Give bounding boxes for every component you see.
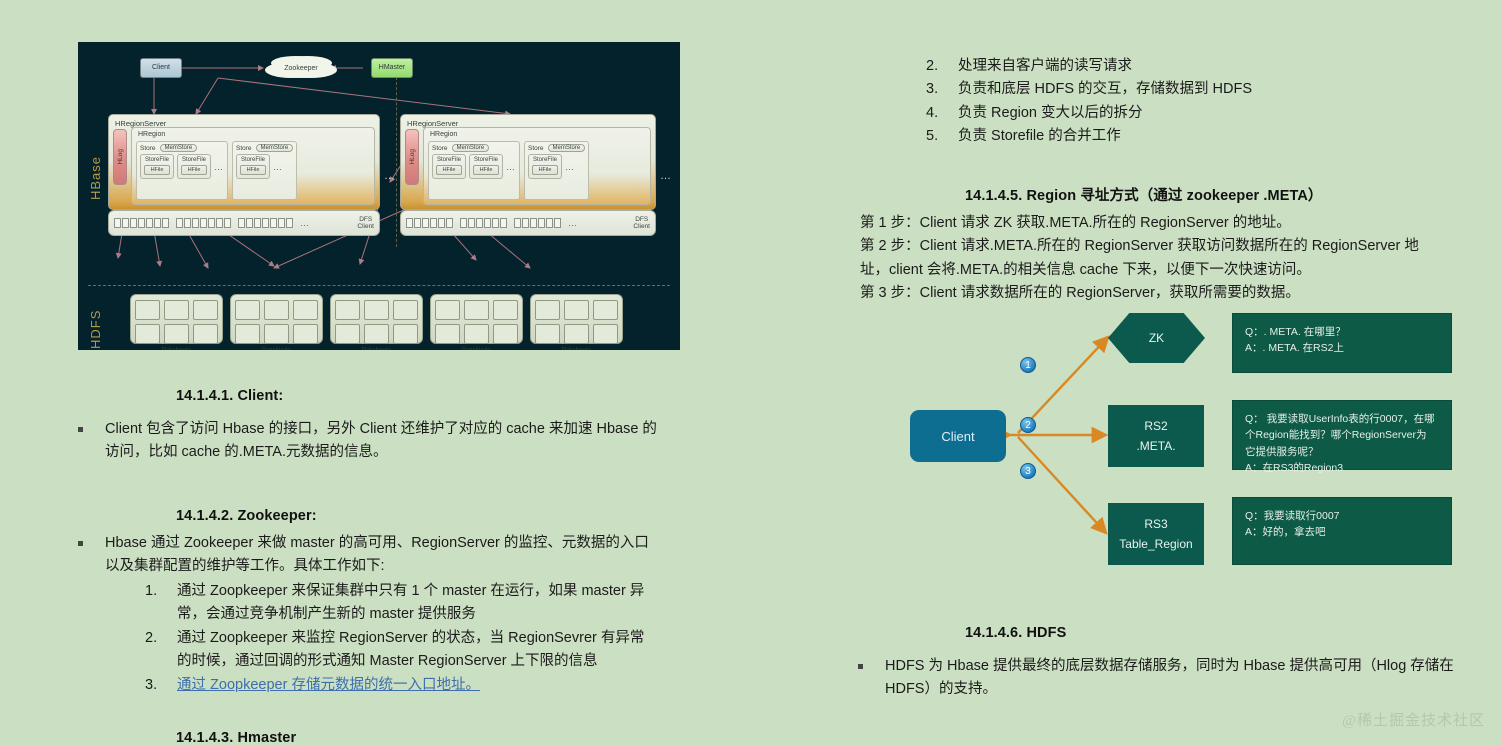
block <box>286 218 293 228</box>
dn-block <box>393 324 418 344</box>
block <box>270 218 277 228</box>
storefile-label: StoreFile <box>474 157 498 163</box>
block <box>278 218 285 228</box>
list-text: 通过 Zoopkeeper 来保证集群中只有 1 个 master 在运行，如果… <box>177 580 655 627</box>
block <box>216 218 223 228</box>
block <box>514 218 521 228</box>
dn-block <box>135 324 160 344</box>
store-block: Store MemStore StoreFile HFile … <box>232 141 297 200</box>
dfs-ellipsis: … <box>568 218 578 228</box>
list-index: 3. <box>926 78 958 101</box>
datanode-1: DataNode <box>130 294 223 344</box>
qa1-line-1: Q：. META. 在哪里？ <box>1245 324 1439 340</box>
hfile-label: HFile <box>473 165 499 175</box>
list-text: 负责 Region 变大以后的拆分 <box>958 102 1143 125</box>
storefile-block: StoreFile HFile <box>432 154 466 179</box>
hlog-label: HLog <box>409 149 416 165</box>
storefile-label: StoreFile <box>182 157 206 163</box>
storefile-block: StoreFile HFile <box>469 154 503 179</box>
storefile-label: StoreFile <box>533 157 557 163</box>
memstore-label: MemStore <box>256 144 294 152</box>
heading-region-addressing: 14.1.4.5. Region 寻址方式（通过 zookeeper .META… <box>965 184 1323 205</box>
dfs-line-1: DFS <box>633 216 650 223</box>
datanode-blocks <box>435 300 518 344</box>
block-group <box>514 218 561 228</box>
block <box>146 218 153 228</box>
bullet-zookeeper: Hbase 通过 Zookeeper 来做 master 的高可用、Region… <box>78 532 658 579</box>
datanode-blocks <box>335 300 418 344</box>
block <box>224 218 231 228</box>
list-item: 1. 通过 Zoopkeeper 来保证集群中只有 1 个 master 在运行… <box>145 580 655 627</box>
block <box>122 218 129 228</box>
dn-block <box>535 324 560 344</box>
block <box>546 218 553 228</box>
hregionserver-right: HRegionServer HLog HRegion Store MemStor… <box>400 114 656 210</box>
store-block: Store MemStore StoreFile HFile <box>428 141 520 200</box>
region-addressing-figure: Client ZK RS2 .META. RS3 Table_Region 1 … <box>850 305 1490 585</box>
store-label: Store <box>432 145 448 152</box>
block <box>130 218 137 228</box>
block <box>192 218 199 228</box>
hfile-label: HFile <box>240 165 266 175</box>
dn-block <box>293 324 318 344</box>
bullet-zookeeper-text: Hbase 通过 Zookeeper 来做 master 的高可用、Region… <box>105 532 658 579</box>
bullet-client-text: Client 包含了访问 Hbase 的接口，另外 Client 还维护了对应的… <box>105 418 658 465</box>
storefile-block: StoreFile HFile <box>177 154 211 179</box>
block <box>522 218 529 228</box>
dn-block <box>335 324 360 344</box>
list-index: 2. <box>145 627 177 674</box>
hregion-right: HRegion Store MemStore StoreFile <box>423 127 651 205</box>
storefile-block: StoreFile HFile <box>236 154 270 179</box>
storefile-block: StoreFile HFile <box>140 154 174 179</box>
block <box>422 218 429 228</box>
qa2-line-4: A：在RS3的Region3 <box>1245 460 1439 476</box>
region-steps: 第 1 步：Client 请求 ZK 获取.META.所在的 RegionSer… <box>860 212 1470 306</box>
block <box>246 218 253 228</box>
dn-block <box>193 300 218 320</box>
bullet-hdfs: HDFS 为 Hbase 提供最终的底层数据存储服务，同时为 Hbase 提供高… <box>858 655 1473 702</box>
side-label-hbase: HBase <box>88 134 103 200</box>
block <box>460 218 467 228</box>
list-index: 5. <box>926 125 958 148</box>
rs2-line-2: .META. <box>1136 436 1175 456</box>
list-item: 3. 负责和底层 HDFS 的交互，存储数据到 HDFS <box>926 78 1486 101</box>
dn-block <box>593 324 618 344</box>
watermark: @稀土掘金技术社区 <box>1342 709 1485 730</box>
heading-hdfs: 14.1.4.6. HDFS <box>965 625 1066 641</box>
qa3-line-2: A：好的，拿去吧 <box>1245 524 1439 540</box>
hlog-right: HLog <box>405 129 419 185</box>
block <box>438 218 445 228</box>
datanode-3: DataNode <box>330 294 423 344</box>
block <box>162 218 169 228</box>
dfs-line-2: Client <box>357 223 374 230</box>
dn-block <box>435 324 460 344</box>
heading-client: 14.1.4.1. Client: <box>176 388 283 404</box>
block <box>414 218 421 228</box>
block <box>208 218 215 228</box>
qa2-line-2: 个Region能找到？哪个RegionServer为 <box>1245 427 1439 443</box>
dn-block <box>293 300 318 320</box>
list-item[interactable]: 3. 通过 Zoopkeeper 存储元数据的统一入口地址。 <box>145 674 655 697</box>
hlog-label: HLog <box>117 149 124 165</box>
region-step-2-cont: 址，client 会将.META.的相关信息 cache 下来，以便下一次快速访… <box>860 259 1470 282</box>
block <box>114 218 121 228</box>
block <box>484 218 491 228</box>
heading-zookeeper: 14.1.4.2. Zookeeper: <box>176 508 317 524</box>
storefile-ellipsis: … <box>214 162 224 172</box>
hlog-left: HLog <box>113 129 127 185</box>
block <box>554 218 561 228</box>
rs3-line-1: RS3 <box>1144 514 1167 534</box>
square-bullet-icon <box>78 541 83 546</box>
dfs-client-label: DFS Client <box>633 216 650 231</box>
block <box>476 218 483 228</box>
block-group <box>460 218 507 228</box>
dn-block <box>193 324 218 344</box>
list-text-link[interactable]: 通过 Zoopkeeper 存储元数据的统一入口地址。 <box>177 674 480 697</box>
storefile-block: StoreFile HFile <box>528 154 562 179</box>
dfs-client-label: DFS Client <box>357 216 374 231</box>
hfile-label: HFile <box>181 165 207 175</box>
step-badge-3: 3 <box>1020 463 1036 479</box>
region-step-1: 第 1 步：Client 请求 ZK 获取.META.所在的 RegionSer… <box>860 212 1470 235</box>
step-badge-1: 1 <box>1020 357 1036 373</box>
square-bullet-icon <box>78 427 83 432</box>
datanode-label: DataNode <box>235 347 318 350</box>
dn-block <box>564 324 589 344</box>
hfile-label: HFile <box>436 165 462 175</box>
dn-block <box>593 300 618 320</box>
list-index: 4. <box>926 102 958 125</box>
block <box>184 218 191 228</box>
store-label: Store <box>140 145 156 152</box>
storefile-ellipsis: … <box>506 162 516 172</box>
right-column: 2. 处理来自客户端的读写请求 3. 负责和底层 HDFS 的交互，存储数据到 … <box>750 0 1501 740</box>
hfile-label: HFile <box>144 165 170 175</box>
datanode-label: DataNode <box>535 347 618 350</box>
qa-box-3: Q：我要读取行0007 A：好的，拿去吧 <box>1232 497 1452 565</box>
list-item: 4. 负责 Region 变大以后的拆分 <box>926 102 1486 125</box>
dn-block <box>435 300 460 320</box>
block <box>430 218 437 228</box>
store-label: Store <box>528 145 544 152</box>
regionserver-ellipsis-left: … <box>384 170 396 182</box>
block <box>138 218 145 228</box>
hregion-title: HRegion <box>138 131 371 138</box>
datanode-label: DataNode <box>335 347 418 350</box>
rs2-line-1: RS2 <box>1144 416 1167 436</box>
hbase-architecture-figure: HBase HDFS Client Zookeeper HMaster HReg… <box>78 42 680 350</box>
qa2-line-1: Q： 我要读取UserInfo表的行0007，在哪 <box>1245 411 1439 427</box>
list-text: 处理来自客户端的读写请求 <box>958 55 1132 78</box>
block <box>262 218 269 228</box>
datanode-4: DataNode <box>430 294 523 344</box>
block <box>492 218 499 228</box>
block <box>238 218 245 228</box>
storefile-ellipsis: … <box>565 162 575 172</box>
block-group <box>114 218 169 228</box>
dfs-ellipsis: … <box>300 218 310 228</box>
datanode-5: DataNode <box>530 294 623 344</box>
dn-block <box>135 300 160 320</box>
block <box>500 218 507 228</box>
storefile-label: StoreFile <box>437 157 461 163</box>
zookeeper-task-list: 1. 通过 Zoopkeeper 来保证集群中只有 1 个 master 在运行… <box>145 580 655 697</box>
dn-block <box>464 324 489 344</box>
list-item: 5. 负责 Storefile 的合并工作 <box>926 125 1486 148</box>
region-step-2: 第 2 步：Client 请求.META.所在的 RegionServer 获取… <box>860 235 1470 258</box>
store-block: Store MemStore StoreFile HFile <box>136 141 228 200</box>
datanode-blocks <box>535 300 618 344</box>
block-group <box>176 218 231 228</box>
datanode-label: DataNode <box>435 347 518 350</box>
memstore-label: MemStore <box>160 144 198 152</box>
block <box>200 218 207 228</box>
regionserver-duty-list: 2. 处理来自客户端的读写请求 3. 负责和底层 HDFS 的交互，存储数据到 … <box>926 55 1486 149</box>
block <box>254 218 261 228</box>
datanode-2: DataNode <box>230 294 323 344</box>
dfs-line-2: Client <box>633 223 650 230</box>
block <box>176 218 183 228</box>
list-text: 通过 Zoopkeeper 来监控 RegionServer 的状态，当 Reg… <box>177 627 655 674</box>
block-group <box>238 218 293 228</box>
vertical-divider <box>396 72 397 247</box>
block <box>530 218 537 228</box>
block <box>406 218 413 228</box>
qa2-line-3: 它提供服务呢？ <box>1245 444 1439 460</box>
side-label-hdfs: HDFS <box>88 297 103 349</box>
datanode-blocks <box>235 300 318 344</box>
list-text: 负责和底层 HDFS 的交互，存储数据到 HDFS <box>958 78 1252 101</box>
dfs-line-1: DFS <box>357 216 374 223</box>
node-zookeeper[interactable]: Zookeeper <box>273 58 329 78</box>
figure-zk-node[interactable]: ZK <box>1108 313 1205 363</box>
dn-block <box>164 300 189 320</box>
dfs-client-bar-right: … DFS Client <box>400 210 656 236</box>
list-index: 2. <box>926 55 958 78</box>
dfs-client-bar-left: … DFS Client <box>108 210 380 236</box>
list-text: 负责 Storefile 的合并工作 <box>958 125 1121 148</box>
node-client[interactable]: Client <box>140 58 182 78</box>
storefile-ellipsis: … <box>273 162 283 172</box>
dn-block <box>235 300 260 320</box>
list-item: 2. 通过 Zoopkeeper 来监控 RegionServer 的状态，当 … <box>145 627 655 674</box>
datanode-label: DataNode <box>135 347 218 350</box>
dn-block <box>564 300 589 320</box>
store-label: Store <box>236 145 252 152</box>
datanode-blocks <box>135 300 218 344</box>
block <box>468 218 475 228</box>
rs3-line-2: Table_Region <box>1119 534 1192 554</box>
figure-rs3-node[interactable]: RS3 Table_Region <box>1108 503 1204 565</box>
square-bullet-icon <box>858 664 863 669</box>
hregionserver-left: HRegionServer HLog HRegion Store MemStor… <box>108 114 380 210</box>
figure-rs2-node[interactable]: RS2 .META. <box>1108 405 1204 467</box>
dn-block <box>235 324 260 344</box>
page-root: HBase HDFS Client Zookeeper HMaster HReg… <box>0 0 1501 740</box>
dn-block <box>535 300 560 320</box>
block <box>154 218 161 228</box>
qa-box-2: Q： 我要读取UserInfo表的行0007，在哪 个Region能找到？哪个R… <box>1232 400 1452 470</box>
memstore-label: MemStore <box>452 144 490 152</box>
memstore-label: MemStore <box>548 144 586 152</box>
list-item: 2. 处理来自客户端的读写请求 <box>926 55 1486 78</box>
bullet-client: Client 包含了访问 Hbase 的接口，另外 Client 还维护了对应的… <box>78 418 658 465</box>
regionserver-ellipsis-right: … <box>660 170 672 182</box>
block <box>538 218 545 228</box>
qa-box-1: Q：. META. 在哪里？ A：. META. 在RS2上 <box>1232 313 1452 373</box>
step-badge-2: 2 <box>1020 417 1036 433</box>
dn-block <box>264 324 289 344</box>
region-step-3: 第 3 步：Client 请求数据所在的 RegionServer，获取所需要的… <box>860 282 1470 305</box>
hbase-hdfs-divider <box>88 285 670 286</box>
dn-block <box>335 300 360 320</box>
storefile-label: StoreFile <box>241 157 265 163</box>
dn-block <box>364 324 389 344</box>
dn-block <box>464 300 489 320</box>
block <box>446 218 453 228</box>
hregion-left: HRegion Store MemStore StoreFile <box>131 127 375 205</box>
hregion-title: HRegion <box>430 131 647 138</box>
figure-client-node[interactable]: Client <box>910 410 1006 462</box>
dn-block <box>164 324 189 344</box>
qa3-line-1: Q：我要读取行0007 <box>1245 508 1439 524</box>
storefile-label: StoreFile <box>145 157 169 163</box>
node-hmaster[interactable]: HMaster <box>371 58 413 78</box>
qa1-line-2: A：. META. 在RS2上 <box>1245 340 1439 356</box>
dn-block <box>493 300 518 320</box>
list-index: 1. <box>145 580 177 627</box>
dn-block <box>493 324 518 344</box>
left-column: HBase HDFS Client Zookeeper HMaster HReg… <box>0 0 750 740</box>
dn-block <box>364 300 389 320</box>
dn-block <box>264 300 289 320</box>
store-block: Store MemStore StoreFile HFile … <box>524 141 589 200</box>
heading-hmaster: 14.1.4.3. Hmaster <box>176 730 296 746</box>
dn-block <box>393 300 418 320</box>
bullet-hdfs-text: HDFS 为 Hbase 提供最终的底层数据存储服务，同时为 Hbase 提供高… <box>885 655 1473 702</box>
list-index: 3. <box>145 674 177 697</box>
hfile-label: HFile <box>532 165 558 175</box>
block-group <box>406 218 453 228</box>
